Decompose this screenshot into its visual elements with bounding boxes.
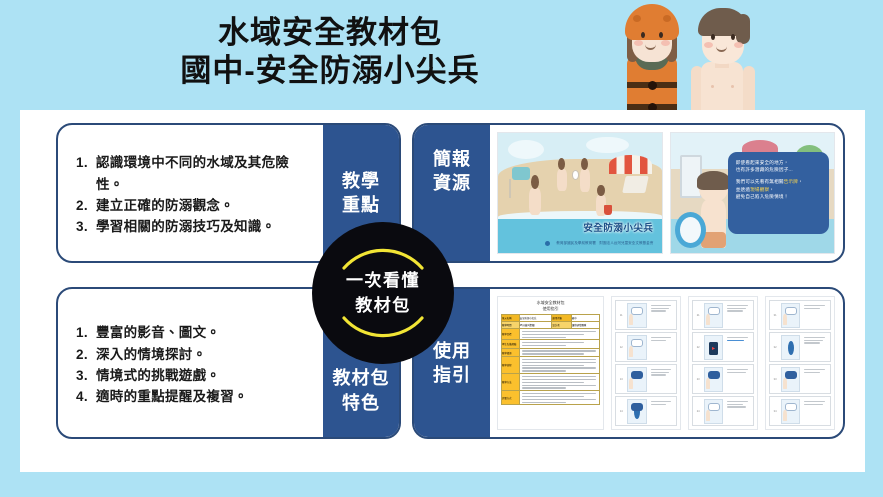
- table-row: 教學目標: [502, 329, 600, 340]
- card-presentation-resources[interactable]: 簡報 資源 安全防溺小尖兵: [412, 123, 845, 263]
- slide-notes: [725, 303, 751, 328]
- table-header-cell: 教學時間: [502, 322, 520, 329]
- table-cell: [519, 340, 600, 348]
- slide-notes-strip: 31 32 33: [769, 300, 831, 426]
- slide-notes: [649, 367, 675, 392]
- slide-thumbnail: [781, 335, 801, 360]
- list-item: 情境式的挑戰遊戲。: [76, 365, 315, 386]
- slide-thumbnail: [704, 367, 724, 392]
- row-label: 教學目標: [502, 329, 520, 340]
- table-cell: [519, 374, 600, 391]
- beach-person-icon: [580, 169, 590, 192]
- slide-number: 14: [618, 399, 625, 424]
- list-item: 深入的情境探討。: [76, 344, 315, 365]
- row-label: 學生先備經驗: [502, 340, 520, 348]
- slide-number: 11: [618, 303, 625, 328]
- bubble-highlight-sign: 告示牌: [784, 179, 798, 184]
- kid-with-life-vest-icon: [619, 0, 685, 118]
- slide-note-row: 31: [769, 300, 831, 330]
- table-cell: 國中: [571, 315, 599, 322]
- slide-note-row: 22: [692, 332, 754, 362]
- doc-title: 水域安全教材包 使用指引: [501, 300, 600, 311]
- table-row: 評量方式: [502, 391, 600, 405]
- lesson-plan-page: 水域安全教材包 使用指引 單元名稱 安全防溺小尖兵 適用對象 國中 教學時間 4…: [498, 297, 603, 429]
- slide-number: 24: [695, 399, 702, 424]
- slide-note-row: 14: [615, 396, 677, 426]
- slide-note-row: 24: [692, 396, 754, 426]
- slide-thumbnail: [627, 367, 647, 392]
- row-label: 教學資源: [502, 348, 520, 356]
- slide-notes-page: 31 32 33: [766, 297, 834, 429]
- table-row: 學生先備經驗: [502, 340, 600, 348]
- slide-number: 13: [618, 367, 625, 392]
- label-line-2: 資源: [433, 171, 471, 195]
- mascot-illustration: [615, 0, 765, 118]
- slide-thumbnail: [627, 335, 647, 360]
- slide-note-row: 23: [692, 364, 754, 394]
- page-title: 水域安全教材包 國中-安全防溺小尖兵: [0, 14, 660, 90]
- badge-line-1: 一次看懂: [346, 268, 420, 294]
- table-row: 教學資源: [502, 348, 600, 356]
- table-row: 單元名稱 安全防溺小尖兵 適用對象 國中: [502, 315, 600, 322]
- list-item: 適時的重點提醒及複習。: [76, 386, 315, 407]
- header-banner: 水域安全教材包 國中-安全防溺小尖兵: [0, 0, 883, 112]
- label-line-1: 簡報: [433, 147, 471, 171]
- sand-bucket-icon: [604, 205, 612, 215]
- slide-thumbnail: [627, 303, 647, 328]
- table-cell: 45分鐘(1節課): [519, 322, 552, 329]
- table-header-cell: 設計者: [552, 322, 572, 329]
- slide-notes-strip: 11 12 13: [615, 300, 677, 426]
- slide-thumbnail: [781, 399, 801, 424]
- slide-notes: [802, 399, 828, 424]
- table-cell: [519, 329, 600, 340]
- table-row: 教學流程: [502, 357, 600, 374]
- list-item: 認識環境中不同的水域及其危險性。: [76, 152, 315, 195]
- beach-person-icon: [557, 169, 567, 191]
- slide-thumbnail: [627, 399, 647, 424]
- slide-number: 32: [772, 335, 779, 360]
- slide-notes-strip: 21 22 23: [692, 300, 754, 426]
- slide-notes: [725, 367, 751, 392]
- slide-thumbnail: [704, 303, 724, 328]
- slide-notes: [802, 335, 828, 360]
- list-item: 建立正確的防溺觀念。: [76, 195, 315, 216]
- label-line-2: 特色: [342, 391, 380, 415]
- bubble-line-3a: 我們可以先看有無相關: [736, 179, 784, 184]
- beach-umbrella-icon: [609, 155, 652, 174]
- title-line-2: 國中-安全防溺小尖兵: [0, 52, 660, 90]
- lesson-plan-table: 單元名稱 安全防溺小尖兵 適用對象 國中 教學時間 45分鐘(1節課) 設計者 …: [501, 314, 600, 405]
- title-line-1: 水域安全教材包: [218, 15, 442, 50]
- slide-number: 23: [695, 367, 702, 392]
- doc-title-line-1: 水域安全教材包: [537, 300, 565, 305]
- slide-notes: [802, 303, 828, 328]
- slide-notes: [725, 335, 751, 360]
- slide-note-row: 34: [769, 396, 831, 426]
- thumbnail-lesson-plan-table-page[interactable]: 水域安全教材包 使用指引 單元名稱 安全防溺小尖兵 適用對象 國中 教學時間 4…: [497, 296, 604, 430]
- credits-text: 教育部國民及學前教育署 財團法人台灣兒童安全文教基金會: [556, 241, 653, 246]
- slide-thumbnail: [704, 399, 724, 424]
- bubble-line-1: 即使看起來安全的地方，: [736, 160, 789, 165]
- list-item: 學習相關的防溺技巧及知識。: [76, 216, 315, 237]
- slide-number: 34: [772, 399, 779, 424]
- label-line-1: 教材包: [333, 366, 390, 390]
- card-usage-guide[interactable]: 使用 指引 水域安全教材包 使用指引 單元名稱 安全防溺小尖兵 適用對象: [412, 287, 845, 439]
- slide-notes: [725, 399, 751, 424]
- slide-canvas: 認識環境中不同的水域及其危險性。 建立正確的防溺觀念。 學習相關的防溺技巧及知識…: [20, 110, 865, 472]
- thumbnail-slide-notes-strip-page-2[interactable]: 21 22 23: [688, 296, 758, 430]
- slide-note-row: 13: [615, 364, 677, 394]
- slide-number: 33: [772, 367, 779, 392]
- speech-bubble: 即使看起來安全的地方， 也有許多潛藏的危險因子... 我們可以先看有無相關告示牌…: [728, 152, 829, 234]
- slide-notes-page: 21 22 23: [689, 297, 757, 429]
- slide-note-row: 21: [692, 300, 754, 330]
- table-cell: 安全防溺小尖兵: [519, 315, 552, 322]
- table-cell: [519, 348, 600, 356]
- bubble-highlight-observe: 現場觀察: [750, 187, 769, 192]
- usage-guide-thumbnails: 水域安全教材包 使用指引 單元名稱 安全防溺小尖兵 適用對象 國中 教學時間 4…: [490, 289, 843, 437]
- slide-note-row: 33: [769, 364, 831, 394]
- beach-person-icon: [529, 188, 540, 214]
- label-line-2: 重點: [342, 193, 380, 217]
- slide-number: 31: [772, 303, 779, 328]
- bubble-line-4a: 並透過: [736, 187, 750, 192]
- center-badge[interactable]: 一次看懂 教材包: [312, 222, 454, 364]
- doc-title-line-2: 使用指引: [543, 306, 559, 311]
- table-cell: 課程研發團隊: [571, 322, 599, 329]
- label-line-1: 教學: [342, 169, 380, 193]
- slide-thumbnail: [781, 367, 801, 392]
- table-row: 教學方法: [502, 374, 600, 391]
- slide-note-row: 11: [615, 300, 677, 330]
- thumbnail-title: 安全防溺小尖兵: [583, 220, 653, 234]
- slide-number: 22: [695, 335, 702, 360]
- row-label: 教學方法: [502, 374, 520, 391]
- badge-line-2: 教材包: [346, 293, 420, 319]
- slide-notes: [802, 367, 828, 392]
- teaching-points-list: 認識環境中不同的水域及其危險性。 建立正確的防溺觀念。 學習相關的防溺技巧及知識…: [58, 125, 323, 261]
- slide-notes: [649, 303, 675, 328]
- package-features-list: 豐富的影音、圖文。 深入的情境探討。 情境式的挑戰遊戲。 適時的重點提醒及複習。: [58, 289, 323, 437]
- bubble-line-3b: ，: [798, 179, 803, 184]
- beach-ball-icon: [572, 170, 579, 180]
- slide-note-row: 12: [615, 332, 677, 362]
- table-cell: [519, 391, 600, 405]
- slide-thumbnail: [704, 335, 724, 360]
- table-cell: [519, 357, 600, 374]
- slide-note-row: 32: [769, 332, 831, 362]
- table-header-cell: 單元名稱: [502, 315, 520, 322]
- list-item: 豐富的影音、圖文。: [76, 322, 315, 343]
- table-header-cell: 適用對象: [552, 315, 572, 322]
- bubble-line-4b: ，: [769, 187, 774, 192]
- kid-without-vest-icon: [687, 6, 759, 118]
- slide-number: 12: [618, 335, 625, 360]
- lounge-chair-icon: [622, 176, 648, 193]
- row-label: 教學流程: [502, 357, 520, 374]
- bubble-line-5: 避免自己陷入危險情境！: [736, 194, 789, 199]
- row-label: 評量方式: [502, 391, 520, 405]
- slide-notes-page: 11 12 13: [612, 297, 680, 429]
- slide-notes: [649, 399, 675, 424]
- presentation-thumbnails: 安全防溺小尖兵 教育部國民及學前教育署 財團法人台灣兒童安全文教基金會: [490, 125, 843, 261]
- thumbnail-slide-notes-strip-page-1[interactable]: 11 12 13: [611, 296, 681, 430]
- credit-logo-icon: [545, 241, 550, 246]
- slide-thumbnail: [781, 303, 801, 328]
- slide-number: 21: [695, 303, 702, 328]
- thumbnail-credits: 教育部國民及學前教育署 財團法人台灣兒童安全文教基金會: [545, 241, 653, 246]
- thumbnail-slide-notes-strip-page-3[interactable]: 31 32 33: [765, 296, 835, 430]
- table-row: 教學時間 45分鐘(1節課) 設計者 課程研發團隊: [502, 322, 600, 329]
- slide-notes: [649, 335, 675, 360]
- thumbnail-beach-scene-slide[interactable]: 安全防溺小尖兵 教育部國民及學前教育署 財團法人台灣兒童安全文教基金會: [497, 132, 663, 254]
- thumbnail-dialogue-slide[interactable]: 即使看起來安全的地方， 也有許多潛藏的危險因子... 我們可以先看有無相關告示牌…: [670, 132, 836, 254]
- badge-text: 一次看懂 教材包: [346, 268, 420, 319]
- label-line-2: 指引: [433, 363, 471, 387]
- bubble-line-2: 也有許多潛藏的危險因子...: [736, 167, 793, 172]
